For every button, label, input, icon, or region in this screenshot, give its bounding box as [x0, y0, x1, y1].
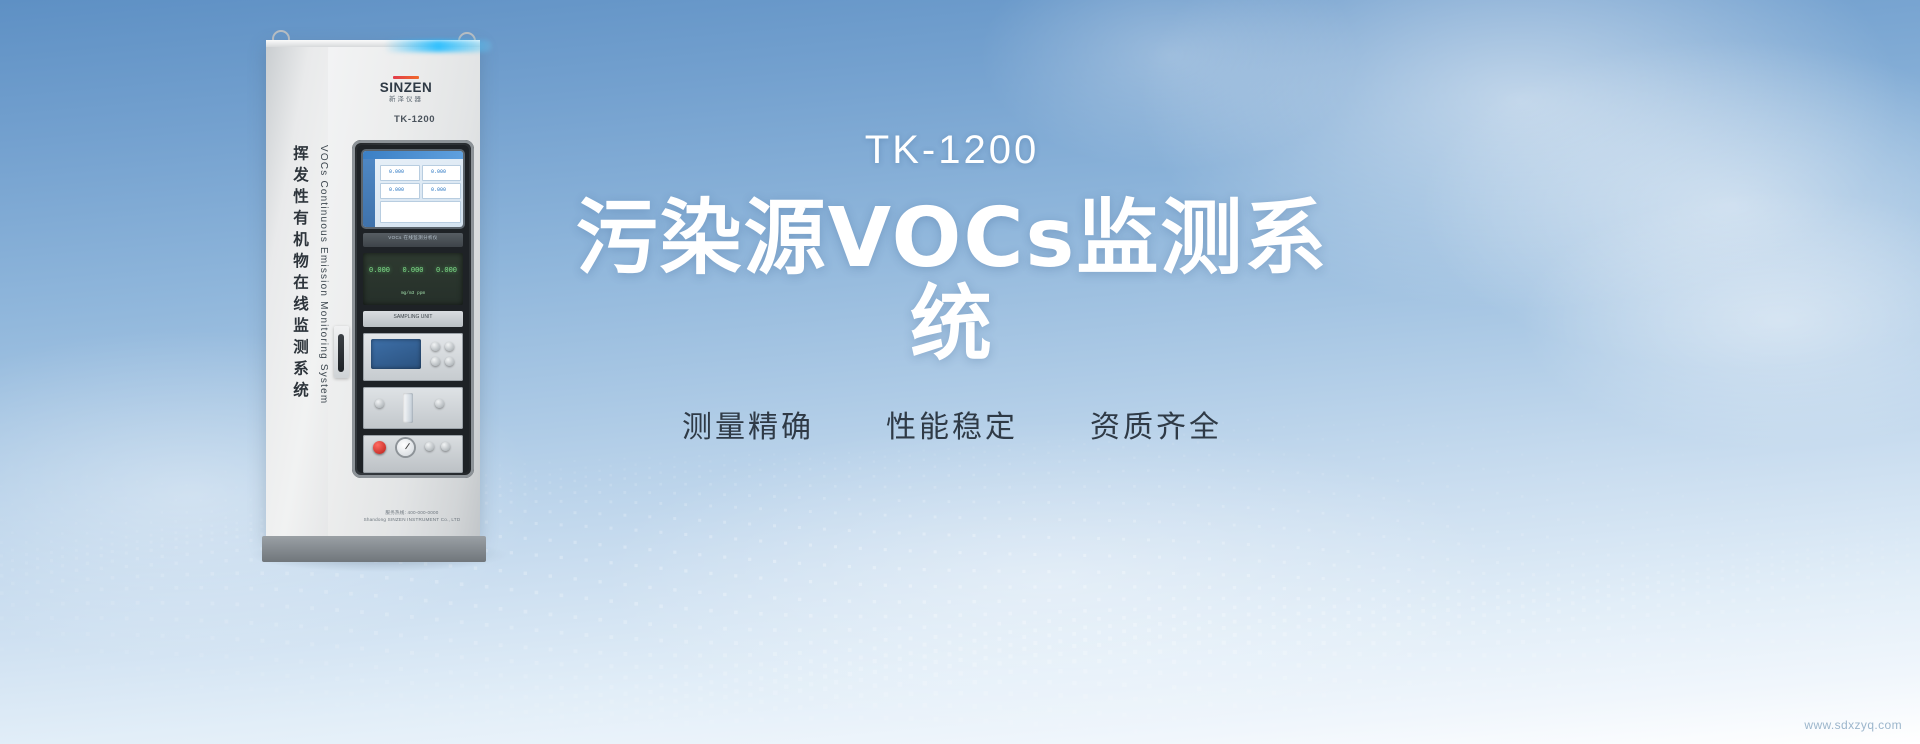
hmi-value: 0.000: [389, 187, 404, 193]
hmi-value: 0.000: [431, 187, 446, 193]
analyzer-readout-display: 0.000 0.000 0.000 mg/m3 ppm: [363, 253, 463, 305]
controller-panel: [363, 333, 463, 381]
cabinet-vertical-text-cn: 挥发性有机物在线监测系统: [291, 145, 313, 403]
brand-name: SINZEN: [366, 81, 446, 95]
control-knob-icon: [431, 357, 440, 366]
hmi-touchscreen: 0.000 0.000 0.000 0.000: [363, 151, 463, 227]
readout-values: 0.000 0.000 0.000: [369, 267, 457, 275]
page-title: 污染源VOCs监测系统: [552, 196, 1352, 368]
pump-control-panel: [363, 435, 463, 473]
footer-hotline: 服务热线: 400-000-0000: [352, 510, 472, 517]
feature-item: 资质齐全: [1090, 402, 1222, 446]
readout-value: 0.000: [436, 267, 457, 275]
cabinet-body: SINZEN 新泽仪器 TK-1200 挥发性有机物在线监测系统 VOCs Co…: [266, 40, 480, 540]
hero-model-label: TK-1200: [552, 130, 1352, 170]
cabinet-door-window: 0.000 0.000 0.000 0.000 VOCs 在线监测分析仪 0.0…: [352, 140, 474, 478]
site-watermark: www.sdxzyq.com: [1804, 718, 1902, 732]
cabinet-door-handle[interactable]: [334, 326, 349, 378]
control-knob-icon: [441, 442, 450, 451]
cabinet-model-label: TK-1200: [394, 114, 435, 125]
control-knob-icon: [445, 342, 454, 351]
footer-company: Shandong SINZEN INSTRUMENT Co., LTD: [352, 517, 472, 524]
cabinet-footer-text: 服务热线: 400-000-0000 Shandong SINZEN INSTR…: [352, 510, 472, 523]
hmi-value: 0.000: [431, 169, 446, 175]
flow-module-panel: [363, 387, 463, 429]
flow-tube-icon: [403, 393, 413, 423]
emergency-stop-icon: [373, 441, 386, 454]
cabinet-led-strip: [384, 40, 492, 52]
cloud-bloom: [1520, 190, 1920, 450]
controller-lcd: [371, 339, 421, 369]
hero-banner: SINZEN 新泽仪器 TK-1200 挥发性有机物在线监测系统 VOCs Co…: [0, 0, 1920, 744]
hmi-value: 0.000: [389, 169, 404, 175]
cabinet-vertical-text-en: VOCs Continuous Emission Monitoring Syst…: [318, 145, 329, 404]
readout-value: 0.000: [369, 267, 390, 275]
hmi-titlebar: [363, 151, 463, 159]
readout-value: 0.000: [402, 267, 423, 275]
product-cabinet: SINZEN 新泽仪器 TK-1200 挥发性有机物在线监测系统 VOCs Co…: [262, 22, 492, 562]
hmi-cell: [380, 201, 461, 223]
control-knob-icon: [435, 399, 444, 408]
feature-list: 测量精确 性能稳定 资质齐全: [552, 402, 1352, 446]
analyzer-status-label: VOCs 在线监测分析仪: [366, 235, 460, 241]
hmi-sidebar: [363, 159, 375, 227]
pressure-gauge-icon: [397, 439, 414, 456]
feature-item: 测量精确: [682, 402, 814, 446]
cabinet-base-plinth: [262, 536, 486, 562]
logo-accent-bar: [393, 76, 419, 79]
brand-name-cn: 新泽仪器: [366, 97, 446, 104]
cloud-bloom: [1420, 40, 1920, 370]
control-knob-icon: [425, 442, 434, 451]
control-knob-icon: [431, 342, 440, 351]
hero-copy: TK-1200 污染源VOCs监测系统 测量精确 性能稳定 资质齐全: [552, 130, 1352, 446]
control-knob-icon: [445, 357, 454, 366]
cloud-bloom: [600, 420, 1500, 740]
readout-unit-label: mg/m3 ppm: [369, 291, 457, 296]
cabinet-door-interior: 0.000 0.000 0.000 0.000 VOCs 在线监测分析仪 0.0…: [357, 145, 469, 473]
feature-item: 性能稳定: [886, 402, 1018, 446]
control-knob-icon: [375, 399, 384, 408]
brand-logo: SINZEN 新泽仪器: [366, 76, 446, 103]
sampling-unit-label: SAMPLING UNIT: [363, 314, 463, 320]
